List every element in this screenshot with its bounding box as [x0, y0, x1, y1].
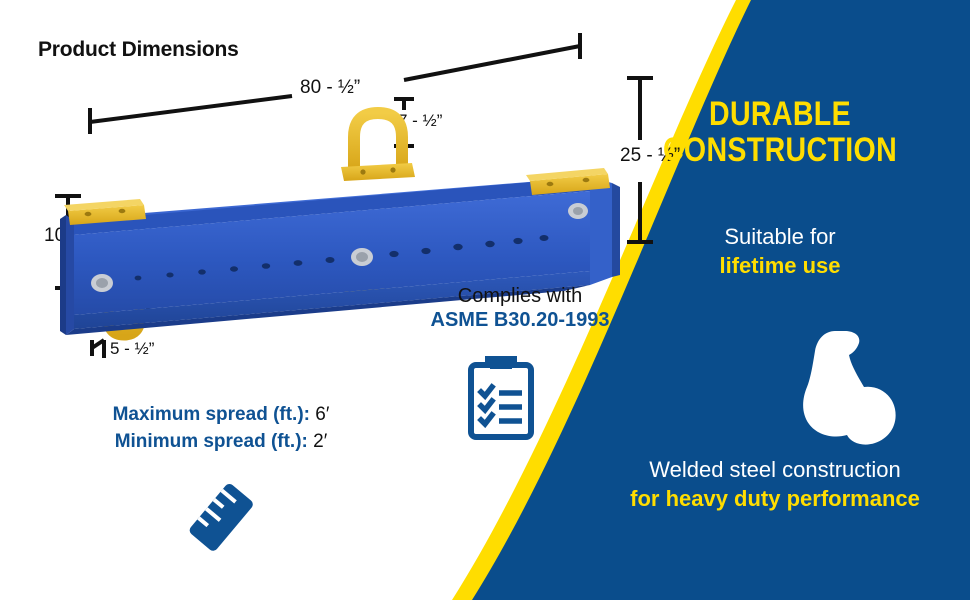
complies-block: Complies with ASME B30.20-1993 [400, 284, 640, 333]
complies-line1: Complies with [400, 284, 640, 308]
heading-line2: CONSTRUCTION [629, 132, 931, 168]
spreader-beam-product-image [60, 95, 630, 375]
bolt-right [568, 203, 588, 219]
complies-line2: ASME B30.20-1993 [400, 308, 640, 332]
max-spread-value: 6′ [315, 404, 329, 425]
right-panel-heading: DURABLE CONSTRUCTION [629, 96, 931, 168]
page-title: Product Dimensions [38, 38, 239, 62]
min-spread-label: Minimum spread (ft.): [115, 431, 308, 452]
clipboard-checklist-icon [466, 356, 536, 440]
feature-1: Suitable for lifetime use [600, 222, 960, 281]
ruler-icon [186, 480, 258, 556]
min-spread-value: 2′ [313, 431, 327, 452]
feature-2-yellow: for heavy duty performance [585, 484, 965, 513]
spread-block: Maximum spread (ft.): 6′ Minimum spread … [86, 402, 356, 456]
infographic-canvas: Product Dimensions [0, 0, 970, 600]
feature-2-white: Welded steel construction [585, 455, 965, 484]
bolt-left [91, 274, 113, 292]
bolt-center [351, 248, 373, 266]
top-lifting-lug [341, 113, 415, 181]
feature-1-white: Suitable for [600, 222, 960, 251]
max-spread-row: Maximum spread (ft.): 6′ [86, 402, 356, 429]
feature-1-yellow: lifetime use [600, 251, 960, 280]
min-spread-row: Minimum spread (ft.): 2′ [86, 429, 356, 456]
flexed-bicep-icon [795, 325, 907, 447]
feature-2: Welded steel construction for heavy duty… [585, 455, 965, 514]
max-spread-label: Maximum spread (ft.): [113, 404, 310, 425]
heading-line1: DURABLE [629, 96, 931, 132]
